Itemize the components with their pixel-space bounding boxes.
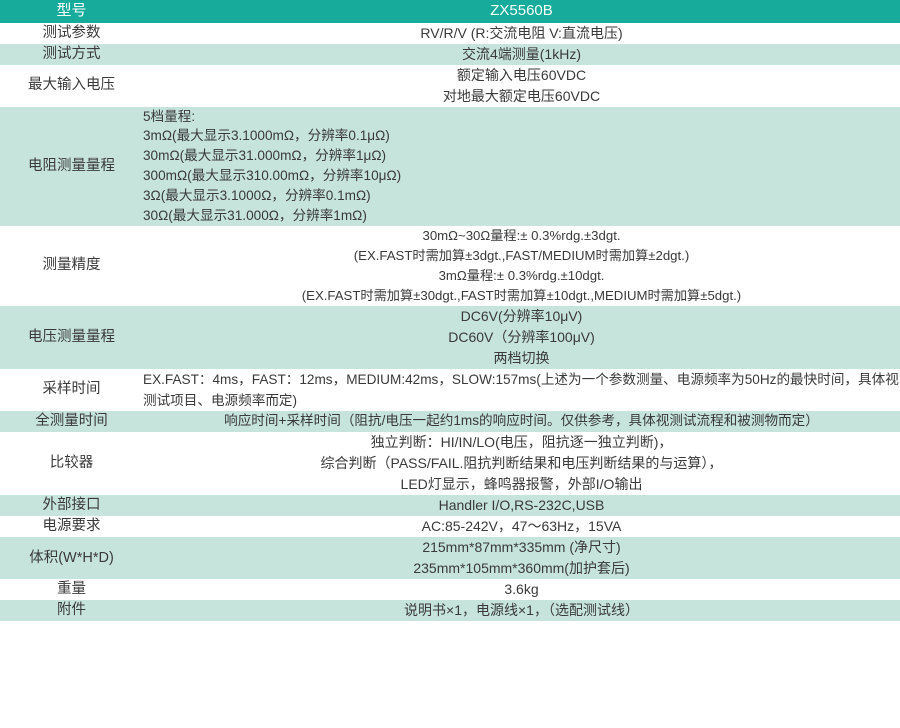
header-label-cell: 型号 bbox=[0, 0, 143, 23]
row-value-total-measurement-time: 响应时间+采样时间（阻抗/电压一起约1ms的响应时间。仅供参考，具体视测试流程和… bbox=[143, 411, 900, 432]
row-value-weight: 3.6kg bbox=[143, 579, 900, 600]
row-label-test-method: 测试方式 bbox=[0, 44, 143, 65]
row-value-measurement-accuracy: 30mΩ~30Ω量程:± 0.3%rdg.±3dgt. (EX.FAST时需加算… bbox=[143, 226, 900, 306]
table-row: 重量 3.6kg bbox=[0, 579, 900, 600]
row-label-comparator: 比较器 bbox=[0, 432, 143, 495]
table-row: 电阻测量量程 5档量程: 3mΩ(最大显示3.1000mΩ，分辨率0.1μΩ) … bbox=[0, 107, 900, 226]
row-label-total-measurement-time: 全测量时间 bbox=[0, 411, 143, 432]
row-value-external-interface: Handler I/O,RS-232C,USB bbox=[143, 495, 900, 516]
table-header-row: 型号 ZX5560B bbox=[0, 0, 900, 23]
table-row: 外部接口 Handler I/O,RS-232C,USB bbox=[0, 495, 900, 516]
row-label-power-requirement: 电源要求 bbox=[0, 516, 143, 537]
row-value-comparator: 独立判断：HI/IN/LO(电压，阻抗逐一独立判断)， 综合判断（PASS/FA… bbox=[143, 432, 900, 495]
row-value-test-parameter: RV/R/V (R:交流电阻 V:直流电压) bbox=[143, 23, 900, 44]
table-row: 最大输入电压 额定输入电压60VDC 对地最大额定电压60VDC bbox=[0, 65, 900, 107]
row-label-weight: 重量 bbox=[0, 579, 143, 600]
specifications-table-body: 型号 ZX5560B 测试参数 RV/R/V (R:交流电阻 V:直流电压) 测… bbox=[0, 0, 900, 621]
row-label-sampling-time: 采样时间 bbox=[0, 369, 143, 411]
row-label-accessories: 附件 bbox=[0, 600, 143, 621]
specifications-table: 型号 ZX5560B 测试参数 RV/R/V (R:交流电阻 V:直流电压) 测… bbox=[0, 0, 900, 621]
table-row: 比较器 独立判断：HI/IN/LO(电压，阻抗逐一独立判断)， 综合判断（PAS… bbox=[0, 432, 900, 495]
row-label-external-interface: 外部接口 bbox=[0, 495, 143, 516]
table-row: 电源要求 AC:85-242V，47～63Hz，15VA bbox=[0, 516, 900, 537]
row-label-test-parameter: 测试参数 bbox=[0, 23, 143, 44]
table-row: 测量精度 30mΩ~30Ω量程:± 0.3%rdg.±3dgt. (EX.FAS… bbox=[0, 226, 900, 306]
row-label-resistance-range: 电阻测量量程 bbox=[0, 107, 143, 226]
row-value-accessories: 说明书×1，电源线×1，（选配测试线） bbox=[143, 600, 900, 621]
header-value-cell: ZX5560B bbox=[143, 0, 900, 23]
row-label-measurement-accuracy: 测量精度 bbox=[0, 226, 143, 306]
row-label-max-input-voltage: 最大输入电压 bbox=[0, 65, 143, 107]
row-label-dimensions: 体积(W*H*D) bbox=[0, 537, 143, 579]
row-label-voltage-range: 电压测量量程 bbox=[0, 306, 143, 369]
table-row: 采样时间 EX.FAST：4ms，FAST：12ms，MEDIUM:42ms，S… bbox=[0, 369, 900, 411]
row-value-test-method: 交流4端测量(1kHz) bbox=[143, 44, 900, 65]
table-row: 体积(W*H*D) 215mm*87mm*335mm (净尺寸) 235mm*1… bbox=[0, 537, 900, 579]
row-value-resistance-range: 5档量程: 3mΩ(最大显示3.1000mΩ，分辨率0.1μΩ) 30mΩ(最大… bbox=[143, 107, 900, 226]
table-row: 测试参数 RV/R/V (R:交流电阻 V:直流电压) bbox=[0, 23, 900, 44]
table-row: 电压测量量程 DC6V(分辨率10μV) DC60V（分辨率100μV) 两档切… bbox=[0, 306, 900, 369]
row-value-voltage-range: DC6V(分辨率10μV) DC60V（分辨率100μV) 两档切换 bbox=[143, 306, 900, 369]
row-value-max-input-voltage: 额定输入电压60VDC 对地最大额定电压60VDC bbox=[143, 65, 900, 107]
table-row: 测试方式 交流4端测量(1kHz) bbox=[0, 44, 900, 65]
row-value-dimensions: 215mm*87mm*335mm (净尺寸) 235mm*105mm*360mm… bbox=[143, 537, 900, 579]
table-row: 全测量时间 响应时间+采样时间（阻抗/电压一起约1ms的响应时间。仅供参考，具体… bbox=[0, 411, 900, 432]
row-value-sampling-time: EX.FAST：4ms，FAST：12ms，MEDIUM:42ms，SLOW:1… bbox=[143, 369, 900, 411]
row-value-power-requirement: AC:85-242V，47～63Hz，15VA bbox=[143, 516, 900, 537]
table-row: 附件 说明书×1，电源线×1，（选配测试线） bbox=[0, 600, 900, 621]
